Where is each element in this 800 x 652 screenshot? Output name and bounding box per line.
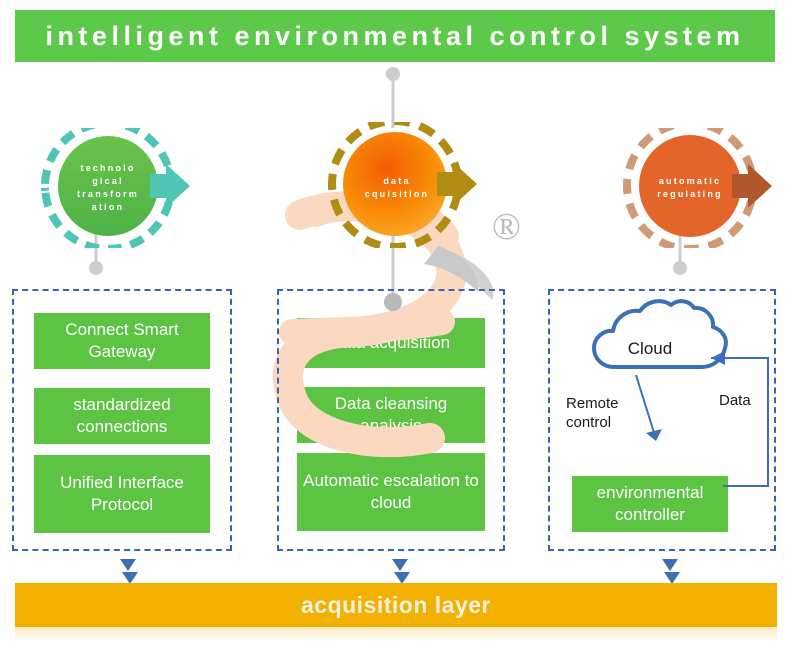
remote-control-label: Remote control (566, 394, 638, 432)
footer-banner: acquisition layer (15, 583, 777, 627)
header-banner: intelligent environmental control system (15, 10, 775, 62)
down-arrow-group (120, 559, 680, 584)
connectivity-panel (12, 289, 232, 551)
page-title: intelligent environmental control system (45, 21, 744, 52)
badge-technological-transformation[interactable]: technolo gical transform ation (38, 128, 208, 248)
badge-automatic-regulating[interactable]: automatic regulating (620, 128, 790, 248)
registered-trademark-icon: ® (492, 208, 521, 246)
data-label: Data (719, 392, 751, 409)
data-panel (277, 289, 505, 551)
badge-data-acquisition[interactable]: data cquisition (325, 122, 495, 242)
cloud-label: Cloud (617, 339, 683, 359)
footer-title: acquisition layer (301, 592, 491, 619)
